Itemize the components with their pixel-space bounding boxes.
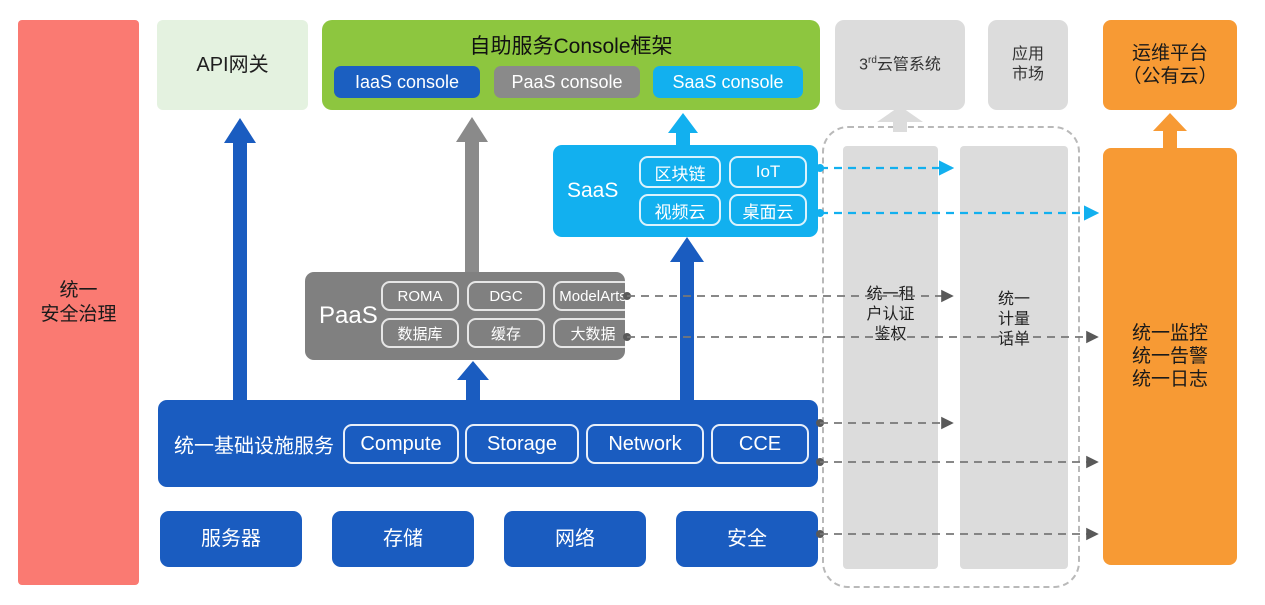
hardware-item-server[interactable]: 服务器 xyxy=(160,511,302,567)
iaas-console-label: IaaS console xyxy=(355,72,459,93)
unified-infrastructure-label: 统一基础设施服务 xyxy=(174,429,334,458)
arrow-infra-to-api-gateway xyxy=(224,118,256,400)
arrow-saas-to-saas-console xyxy=(668,113,698,146)
infra-item-compute[interactable]: Compute xyxy=(343,424,459,464)
saas-console-chip[interactable]: SaaS console xyxy=(653,66,803,98)
console-frame-title: 自助服务Console框架 xyxy=(322,30,820,60)
ops-platform-body-box: 统一监控 统一告警 统一日志 xyxy=(1103,148,1237,565)
unified-infrastructure-bar: 统一基础设施服务 Compute Storage Network CCE xyxy=(158,400,818,487)
app-market-line1: 应用 xyxy=(1012,45,1044,65)
paas-console-chip[interactable]: PaaS console xyxy=(494,66,640,98)
hardware-item-network[interactable]: 网络 xyxy=(504,511,646,567)
unified-tenant-auth-column xyxy=(843,146,938,569)
arrow-paas-to-console xyxy=(456,117,488,272)
saas-item-blockchain[interactable]: 区块链 xyxy=(639,156,721,188)
architecture-diagram: 统一 安全治理 API网关 自助服务Console框架 IaaS console… xyxy=(0,0,1265,605)
hardware-item-security[interactable]: 安全 xyxy=(676,511,818,567)
security-governance-line1: 统一 xyxy=(40,279,116,302)
paas-item-cache[interactable]: 缓存 xyxy=(467,318,545,348)
paas-item-dgc[interactable]: DGC xyxy=(467,281,545,311)
ops-body-line1: 统一监控 xyxy=(1132,322,1208,345)
self-service-console-frame: 自助服务Console框架 IaaS console PaaS console … xyxy=(322,20,820,110)
third-party-cloud-mgmt-box: 3rd云管系统 xyxy=(835,20,965,110)
paas-item-bigdata[interactable]: 大数据 xyxy=(553,318,633,348)
saas-item-iot[interactable]: IoT xyxy=(729,156,807,188)
ops-body-line2: 统一告警 xyxy=(1132,345,1208,368)
arrow-ops-body-to-header xyxy=(1153,113,1187,148)
ops-platform-line2: （公有云） xyxy=(1122,65,1217,88)
unified-tenant-auth-label: 统一租 户认证 鉴权 xyxy=(843,285,938,345)
paas-console-label: PaaS console xyxy=(511,72,622,93)
app-market-line2: 市场 xyxy=(1012,65,1044,85)
paas-item-modelarts[interactable]: ModelArts xyxy=(553,281,633,311)
ops-platform-header-box: 运维平台 （公有云） xyxy=(1103,20,1237,110)
unified-metering-column xyxy=(960,146,1068,569)
arrow-infra-to-paas xyxy=(457,361,489,400)
app-market-box: 应用 市场 xyxy=(988,20,1068,110)
saas-item-desktop-cloud[interactable]: 桌面云 xyxy=(729,194,807,226)
iaas-console-chip[interactable]: IaaS console xyxy=(334,66,480,98)
infra-item-cce[interactable]: CCE xyxy=(711,424,809,464)
third-party-cloud-mgmt-label: 3rd云管系统 xyxy=(859,55,941,75)
saas-item-video-cloud[interactable]: 视频云 xyxy=(639,194,721,226)
saas-panel: SaaS 区块链 IoT 视频云 桌面云 xyxy=(553,145,818,237)
ops-body-line3: 统一日志 xyxy=(1132,368,1208,391)
security-governance-column: 统一 安全治理 xyxy=(18,20,139,585)
arrow-infra-to-saas xyxy=(670,237,704,400)
saas-panel-label: SaaS xyxy=(567,179,618,203)
api-gateway-label: API网关 xyxy=(196,53,268,77)
ops-platform-line1: 运维平台 xyxy=(1122,42,1217,65)
saas-console-label: SaaS console xyxy=(672,72,783,93)
infra-item-network[interactable]: Network xyxy=(586,424,704,464)
infra-item-storage[interactable]: Storage xyxy=(465,424,579,464)
paas-panel-label: PaaS xyxy=(319,302,378,330)
unified-metering-label: 统一 计量 话单 xyxy=(960,290,1068,350)
api-gateway-box: API网关 xyxy=(157,20,308,110)
paas-panel: PaaS ROMA DGC ModelArts 数据库 缓存 大数据 xyxy=(305,272,625,360)
paas-item-roma[interactable]: ROMA xyxy=(381,281,459,311)
hardware-item-storage[interactable]: 存储 xyxy=(332,511,474,567)
paas-item-database[interactable]: 数据库 xyxy=(381,318,459,348)
security-governance-line2: 安全治理 xyxy=(40,303,116,326)
